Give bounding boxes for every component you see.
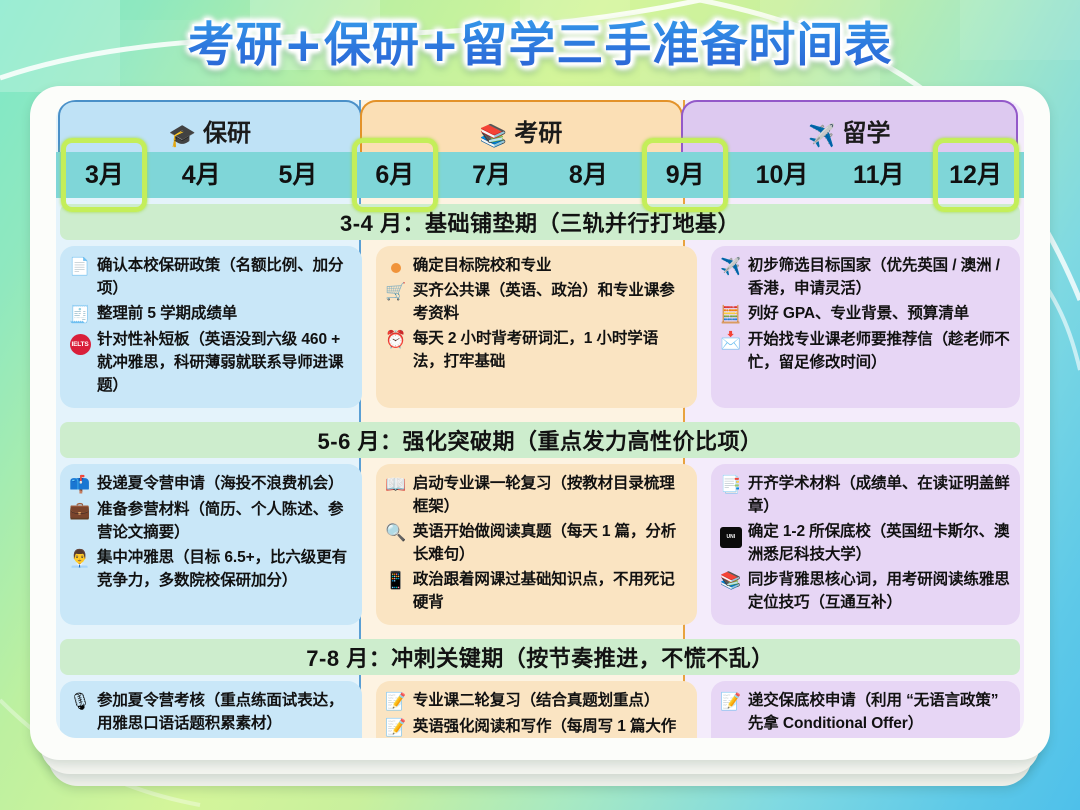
cell-liuxue-s1: ✈️初步筛选目标国家（优先英国 / 澳洲 / 香港，申请灵活）🧮列好 GPA、专…: [711, 246, 1020, 408]
list-item-text: 递交保底校申请（利用 “无语言政策” 先拿 Conditional Offer）: [748, 689, 1010, 735]
list-item: 🧮列好 GPA、专业背景、预算清单: [719, 302, 1010, 326]
list-item: 确定目标院校和专业: [384, 254, 688, 277]
document-search-icon: 🔍: [384, 521, 408, 544]
month-cell-3月[interactable]: 3月: [56, 163, 153, 188]
list-item: 🎧集中 1-2 个月冲刺雅思（每天 2 小时，听力练精听、口语练独白）: [719, 737, 1010, 738]
books-icon: 📚: [480, 125, 507, 147]
cell-kaoyan-s3: 📝专业课二轮复习（结合真题划重点）📝英语强化阅读和写作（每周写 1 篇大作文）❓…: [376, 681, 698, 738]
month-label: 10月: [756, 161, 809, 189]
month-label: 5月: [279, 161, 318, 189]
cell-kaoyan-s2: 📖启动专业课一轮复习（按教材目录梳理框架）🔍英语开始做阅读真题（每天 1 篇，分…: [376, 464, 698, 625]
ielts-badge-inner: IELTS: [70, 334, 91, 355]
list-item-text: 英语强化阅读和写作（每周写 1 篇大作文）: [413, 715, 688, 738]
month-label: 12月: [949, 161, 1002, 189]
open-book-icon: 📖: [384, 473, 408, 496]
mailbox-icon: 📫: [68, 473, 92, 496]
list-item: 📩开始找专业课老师要推荐信（趁老师不忙，留足修改时间）: [719, 328, 1010, 374]
section-band-2: 5-6 月：强化突破期（重点发力高性价比项）: [60, 422, 1020, 458]
month-cell-8月[interactable]: 8月: [540, 163, 637, 188]
month-label: 11月: [853, 161, 904, 189]
shopping-cart-icon: 🛒: [384, 280, 408, 303]
month-label: 3月: [85, 161, 124, 189]
cell-liuxue-s2: 📑开齐学术材料（成绩单、在读证明盖鲜章）UNI确定 1-2 所保底校（英国纽卡斯…: [711, 464, 1020, 625]
list-item-text: 买齐公共课（英语、政治）和专业课参考资料: [413, 279, 688, 325]
list-item: 🎙参加夏令营考核（重点练面试表达，用雅思口语话题积累素材）: [68, 689, 352, 735]
tab-kaoyan-label: 考研: [514, 113, 562, 148]
list-item: 🛒买齐公共课（英语、政治）和专业课参考资料: [384, 279, 688, 325]
list-item-text: 参加夏令营考核（重点练面试表达，用雅思口语话题积累素材）: [97, 689, 352, 735]
list-item: 📝记录各院校考核重点: [68, 737, 352, 738]
ielts-badge-icon: IELTS: [68, 329, 92, 355]
list-item: 📑开齐学术材料（成绩单、在读证明盖鲜章）: [719, 472, 1010, 518]
university-badge-inner: UNI: [720, 527, 742, 548]
month-label: 7月: [472, 161, 511, 189]
list-item: 📝英语强化阅读和写作（每周写 1 篇大作文）: [384, 715, 688, 738]
month-cell-7月[interactable]: 7月: [443, 163, 540, 188]
list-item-text: 开始找专业课老师要推荐信（趁老师不忙，留足修改时间）: [748, 328, 1010, 374]
microphone-icon: 🎙: [68, 690, 92, 713]
month-label: 4月: [182, 161, 221, 189]
writing-doc-icon: 📝: [384, 716, 408, 738]
briefcase-icon: 💼: [68, 499, 92, 522]
cell-baoyan-s1: 📄确认本校保研政策（名额比例、加分项）🧾整理前 5 学期成绩单IELTS针对性补…: [60, 246, 362, 408]
sections-container: 3-4 月：基础铺垫期（三轨并行打地基）📄确认本校保研政策（名额比例、加分项）🧾…: [56, 204, 1024, 738]
month-cell-11月[interactable]: 11月: [830, 163, 927, 188]
month-label: 9月: [666, 161, 705, 189]
list-item-text: 启动专业课一轮复习（按教材目录梳理框架）: [413, 472, 688, 518]
timetable-board: 🎓 保研 📚 考研 ✈️ 留学 3月4月5月6月7月8月9月10月11月12月 …: [56, 100, 1024, 738]
tab-baoyan-label: 保研: [203, 113, 251, 148]
cell-baoyan-s2: 📫投递夏令营申请（海投不浪费机会）💼准备参营材料（简历、个人陈述、参营论文摘要）…: [60, 464, 362, 625]
list-item: UNI确定 1-2 所保底校（英国纽卡斯尔、澳洲悉尼科技大学）: [719, 520, 1010, 566]
graduation-cap-icon: 🎓: [169, 125, 196, 147]
list-item-text: 准备参营材料（简历、个人陈述、参营论文摘要）: [97, 498, 352, 544]
list-item: ⏰每天 2 小时背考研词汇，1 小时学语法，打牢基础: [384, 327, 688, 373]
transcript-icon: 🧾: [68, 303, 92, 326]
list-item: 📄确认本校保研政策（名额比例、加分项）: [68, 254, 352, 300]
cell-liuxue-s3: 📝递交保底校申请（利用 “无语言政策” 先拿 Conditional Offer…: [711, 681, 1020, 738]
section-row-2: 📫投递夏令营申请（海投不浪费机会）💼准备参营材料（简历、个人陈述、参营论文摘要）…: [56, 458, 1024, 633]
list-item: 📱政治跟着网课过基础知识点，不用死记硬背: [384, 568, 688, 614]
list-item: 💼准备参营材料（简历、个人陈述、参营论文摘要）: [68, 498, 352, 544]
list-item-text: 列好 GPA、专业背景、预算清单: [748, 302, 969, 325]
list-item-text: 针对性补短板（英语没到六级 460 + 就冲雅思，科研薄弱就联系导师进课题）: [97, 328, 352, 397]
list-item: 📖启动专业课一轮复习（按教材目录梳理框架）: [384, 472, 688, 518]
person-icon: 👨‍💼: [68, 547, 92, 570]
month-timeline: 3月4月5月6月7月8月9月10月11月12月: [56, 152, 1024, 198]
stamped-docs-icon: 📑: [719, 473, 743, 496]
month-cell-9月[interactable]: 9月: [637, 163, 734, 188]
list-item: IELTS针对性补短板（英语没到六级 460 + 就冲雅思，科研薄弱就联系导师进…: [68, 328, 352, 397]
section-row-3: 🎙参加夏令营考核（重点练面试表达，用雅思口语话题积累素材）📝记录各院校考核重点😌…: [56, 675, 1024, 738]
list-item-text: 政治跟着网课过基础知识点，不用死记硬背: [413, 568, 688, 614]
list-item: 📝专业课二轮复习（结合真题划重点）: [384, 689, 688, 713]
airplane-icon: ✈️: [808, 125, 835, 147]
cell-kaoyan-s1: 确定目标院校和专业🛒买齐公共课（英语、政治）和专业课参考资料⏰每天 2 小时背考…: [376, 246, 698, 408]
month-cell-12月[interactable]: 12月: [927, 163, 1024, 188]
list-item-text: 集中 1-2 个月冲刺雅思（每天 2 小时，听力练精听、口语练独白）: [748, 737, 1010, 738]
list-item-text: 每天 2 小时背考研词汇，1 小时学语法，打牢基础: [413, 327, 688, 373]
mobile-course-icon: 📱: [384, 569, 408, 592]
list-item-text: 同步背雅思核心词，用考研阅读练雅思定位技巧（互通互补）: [748, 568, 1010, 614]
university-badge-icon: UNI: [719, 521, 743, 548]
list-item-text: 初步筛选目标国家（优先英国 / 澳洲 / 香港，申请灵活）: [748, 254, 1010, 300]
airplane-icon: ✈️: [719, 255, 743, 278]
section-band-1: 3-4 月：基础铺垫期（三轨并行打地基）: [60, 204, 1020, 240]
list-item-text: 专业课二轮复习（结合真题划重点）: [413, 689, 659, 712]
month-label: 6月: [375, 161, 414, 189]
page-title-text: 考研+保研+留学三手准备时间表: [188, 6, 893, 75]
list-item: 🔍英语开始做阅读真题（每天 1 篇，分析长难句）: [384, 520, 688, 566]
list-item-text: 英语开始做阅读真题（每天 1 篇，分析长难句）: [413, 520, 688, 566]
list-item-text: 确定 1-2 所保底校（英国纽卡斯尔、澳洲悉尼科技大学）: [748, 520, 1010, 566]
list-item: ✈️初步筛选目标国家（优先英国 / 澳洲 / 香港，申请灵活）: [719, 254, 1010, 300]
list-item: 📝递交保底校申请（利用 “无语言政策” 先拿 Conditional Offer…: [719, 689, 1010, 735]
month-cell-5月[interactable]: 5月: [250, 163, 347, 188]
page-title: 考研+保研+留学三手准备时间表: [0, 6, 1080, 75]
list-item-text: 整理前 5 学期成绩单: [97, 302, 237, 325]
books-stack-icon: 📚: [719, 569, 743, 592]
list-item-text: 集中冲雅思（目标 6.5+，比六级更有竞争力，多数院校保研加分）: [97, 546, 352, 592]
document-icon: 📄: [68, 255, 92, 278]
application-doc-icon: 📝: [719, 690, 743, 713]
list-item: 👨‍💼集中冲雅思（目标 6.5+，比六级更有竞争力，多数院校保研加分）: [68, 546, 352, 592]
section-row-1: 📄确认本校保研政策（名额比例、加分项）🧾整理前 5 学期成绩单IELTS针对性补…: [56, 240, 1024, 416]
track-tabs: 🎓 保研 📚 考研 ✈️ 留学: [56, 100, 1024, 152]
cell-baoyan-s3: 🎙参加夏令营考核（重点练面试表达，用雅思口语话题积累素材）📝记录各院校考核重点😌…: [60, 681, 362, 738]
alarm-clock-icon: ⏰: [384, 328, 408, 351]
list-item-text: 开齐学术材料（成绩单、在读证明盖鲜章）: [748, 472, 1010, 518]
section-band-3: 7-8 月：冲刺关键期（按节奏推进，不慌不乱）: [60, 639, 1020, 675]
month-label: 8月: [569, 161, 608, 189]
envelope-icon: 📩: [719, 329, 743, 352]
notepad-icon: 📝: [384, 690, 408, 713]
calculator-icon: 🧮: [719, 303, 743, 326]
month-cell-6月[interactable]: 6月: [346, 163, 443, 188]
list-item: 📫投递夏令营申请（海投不浪费机会）: [68, 472, 352, 496]
list-item: 📚同步背雅思核心词，用考研阅读练雅思定位技巧（互通互补）: [719, 568, 1010, 614]
paper-stack: 🎓 保研 📚 考研 ✈️ 留学 3月4月5月6月7月8月9月10月11月12月 …: [30, 86, 1050, 786]
list-item: 🧾整理前 5 学期成绩单: [68, 302, 352, 326]
list-item-text: 确认本校保研政策（名额比例、加分项）: [97, 254, 352, 300]
month-cell-4月[interactable]: 4月: [153, 163, 250, 188]
list-item-text: 投递夏令营申请（海投不浪费机会）: [97, 472, 343, 495]
list-item-text: 确定目标院校和专业: [413, 254, 552, 277]
month-cell-10月[interactable]: 10月: [734, 163, 831, 188]
tab-liuxue-label: 留学: [842, 113, 890, 148]
list-item-text: 记录各院校考核重点: [97, 737, 236, 738]
